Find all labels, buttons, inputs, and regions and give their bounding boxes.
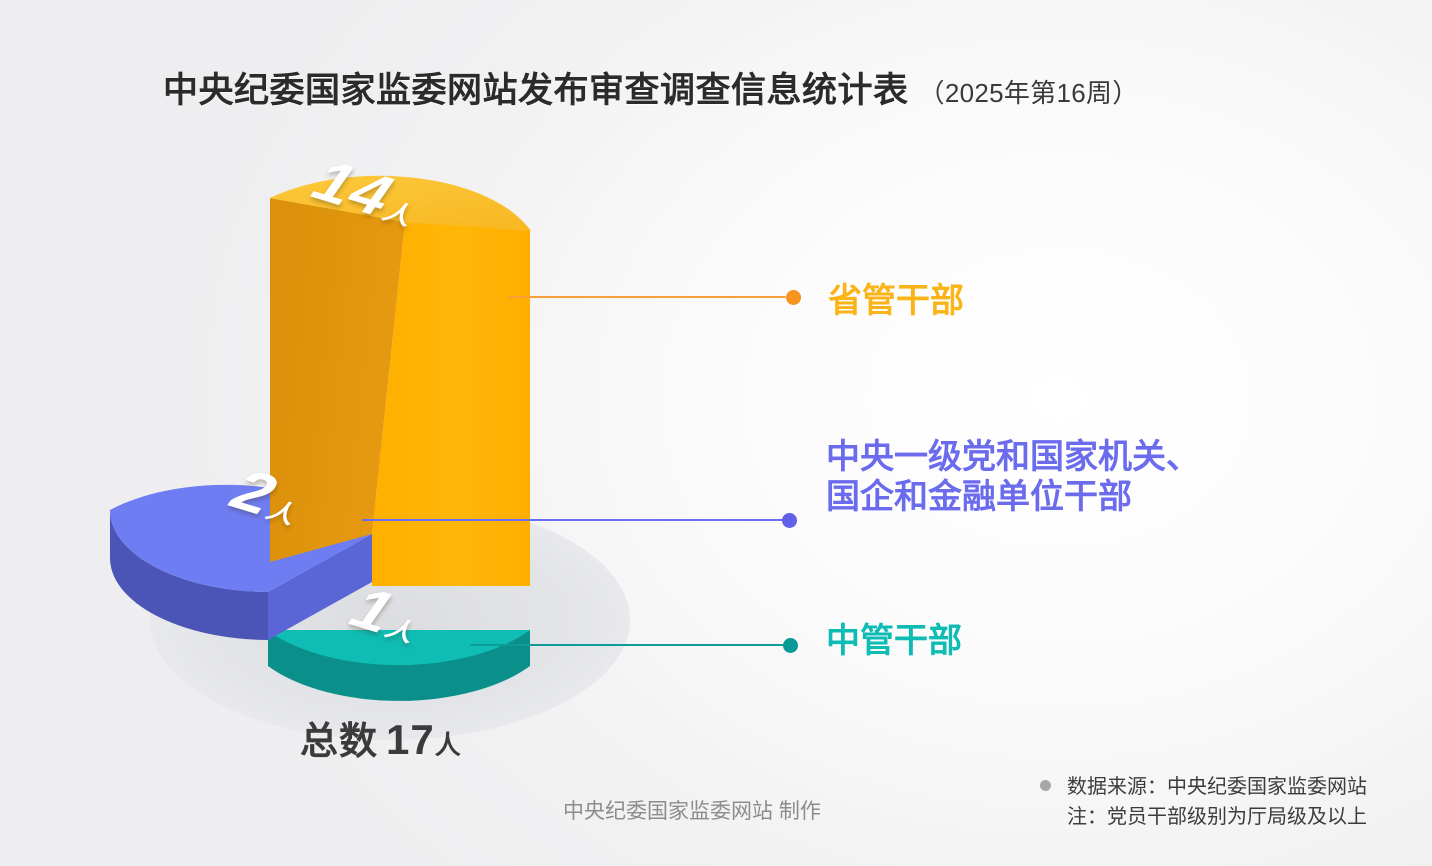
footnote-text: 注：党员干部级别为厅局级及以上 bbox=[1067, 802, 1367, 832]
legend-item-2-line-2: 国企和金融单位干部 bbox=[826, 477, 1200, 517]
leader-dot-3 bbox=[783, 638, 798, 653]
legend-item-2: 中央一级党和国家机关、 国企和金融单位干部 bbox=[826, 437, 1200, 517]
bullet-icon bbox=[1040, 780, 1051, 791]
legend-item-3-line-1: 中管干部 bbox=[826, 621, 962, 661]
total-count-label: 总数17人 bbox=[300, 710, 462, 765]
total-caption: 总数 bbox=[300, 721, 378, 763]
page-title: 中央纪委国家监委网站发布审查调查信息统计表 （2025年第16周） bbox=[163, 62, 1139, 113]
title-main-text: 中央纪委国家监委网站发布审查调查信息统计表 bbox=[163, 62, 909, 113]
leader-line-1 bbox=[508, 296, 786, 298]
source-note-block: 数据来源：中央纪委国家监委网站 注：党员干部级别为厅局级及以上 bbox=[1040, 772, 1367, 832]
total-unit: 人 bbox=[435, 730, 462, 760]
legend-item-1: 省管干部 bbox=[828, 281, 964, 321]
three-d-pie-chart bbox=[110, 110, 730, 790]
legend-item-2-line-1: 中央一级党和国家机关、 bbox=[826, 437, 1200, 477]
total-value: 17 bbox=[386, 716, 435, 763]
leader-dot-1 bbox=[786, 290, 801, 305]
infographic-canvas: 中央纪委国家监委网站发布审查调查信息统计表 （2025年第16周） bbox=[0, 0, 1432, 866]
legend-item-3: 中管干部 bbox=[826, 621, 962, 661]
data-source-text: 数据来源：中央纪委国家监委网站 bbox=[1067, 772, 1367, 802]
slice-1-orange-column bbox=[270, 176, 531, 586]
leader-dot-2 bbox=[782, 513, 797, 528]
leader-line-3 bbox=[470, 644, 786, 646]
title-subtitle-text: （2025年第16周） bbox=[919, 73, 1139, 110]
legend-item-1-line-1: 省管干部 bbox=[828, 281, 964, 321]
credit-line: 中央纪委国家监委网站 制作 bbox=[563, 795, 821, 825]
leader-line-2 bbox=[362, 519, 786, 521]
